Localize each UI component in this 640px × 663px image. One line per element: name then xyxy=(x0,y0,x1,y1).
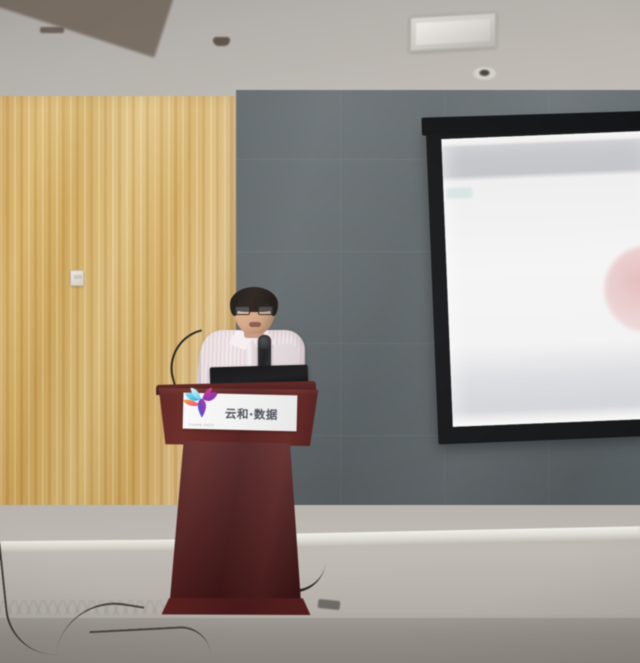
podium-body xyxy=(164,441,304,606)
podium-brand-subtext: YUNHE DATA xyxy=(189,423,214,428)
yunhe-butterfly-logo xyxy=(181,384,224,421)
eyeglasses-icon xyxy=(234,306,275,315)
projection-screen[interactable] xyxy=(426,116,640,445)
corner-soffit-beam xyxy=(0,0,176,58)
recessed-downlight xyxy=(473,67,496,80)
eyeglass-lens-right xyxy=(258,306,273,315)
podium-base-plinth xyxy=(160,598,312,615)
podium-brand-text: 云和·数据 xyxy=(225,406,278,423)
recessed-vent-panel xyxy=(409,12,497,53)
small-ceiling-fixture xyxy=(213,37,230,46)
wall-switch-plate[interactable] xyxy=(70,270,84,286)
ceiling-bracket xyxy=(40,27,64,33)
lectern-podium: 云和·数据 YUNHE DATA xyxy=(152,383,320,623)
eyeglass-bridge xyxy=(250,310,258,311)
podium-brand-sign: 云和·数据 YUNHE DATA xyxy=(183,393,298,432)
photo-scene: 云和·数据 YUNHE DATA xyxy=(0,0,640,663)
eyeglass-lens-left xyxy=(235,306,250,315)
speaker-mouth xyxy=(249,322,261,327)
floor-cable-thin xyxy=(89,625,210,661)
slide-badge xyxy=(446,187,472,199)
slide-pink-circle-graphic xyxy=(603,244,640,333)
screen-surface xyxy=(441,131,640,427)
